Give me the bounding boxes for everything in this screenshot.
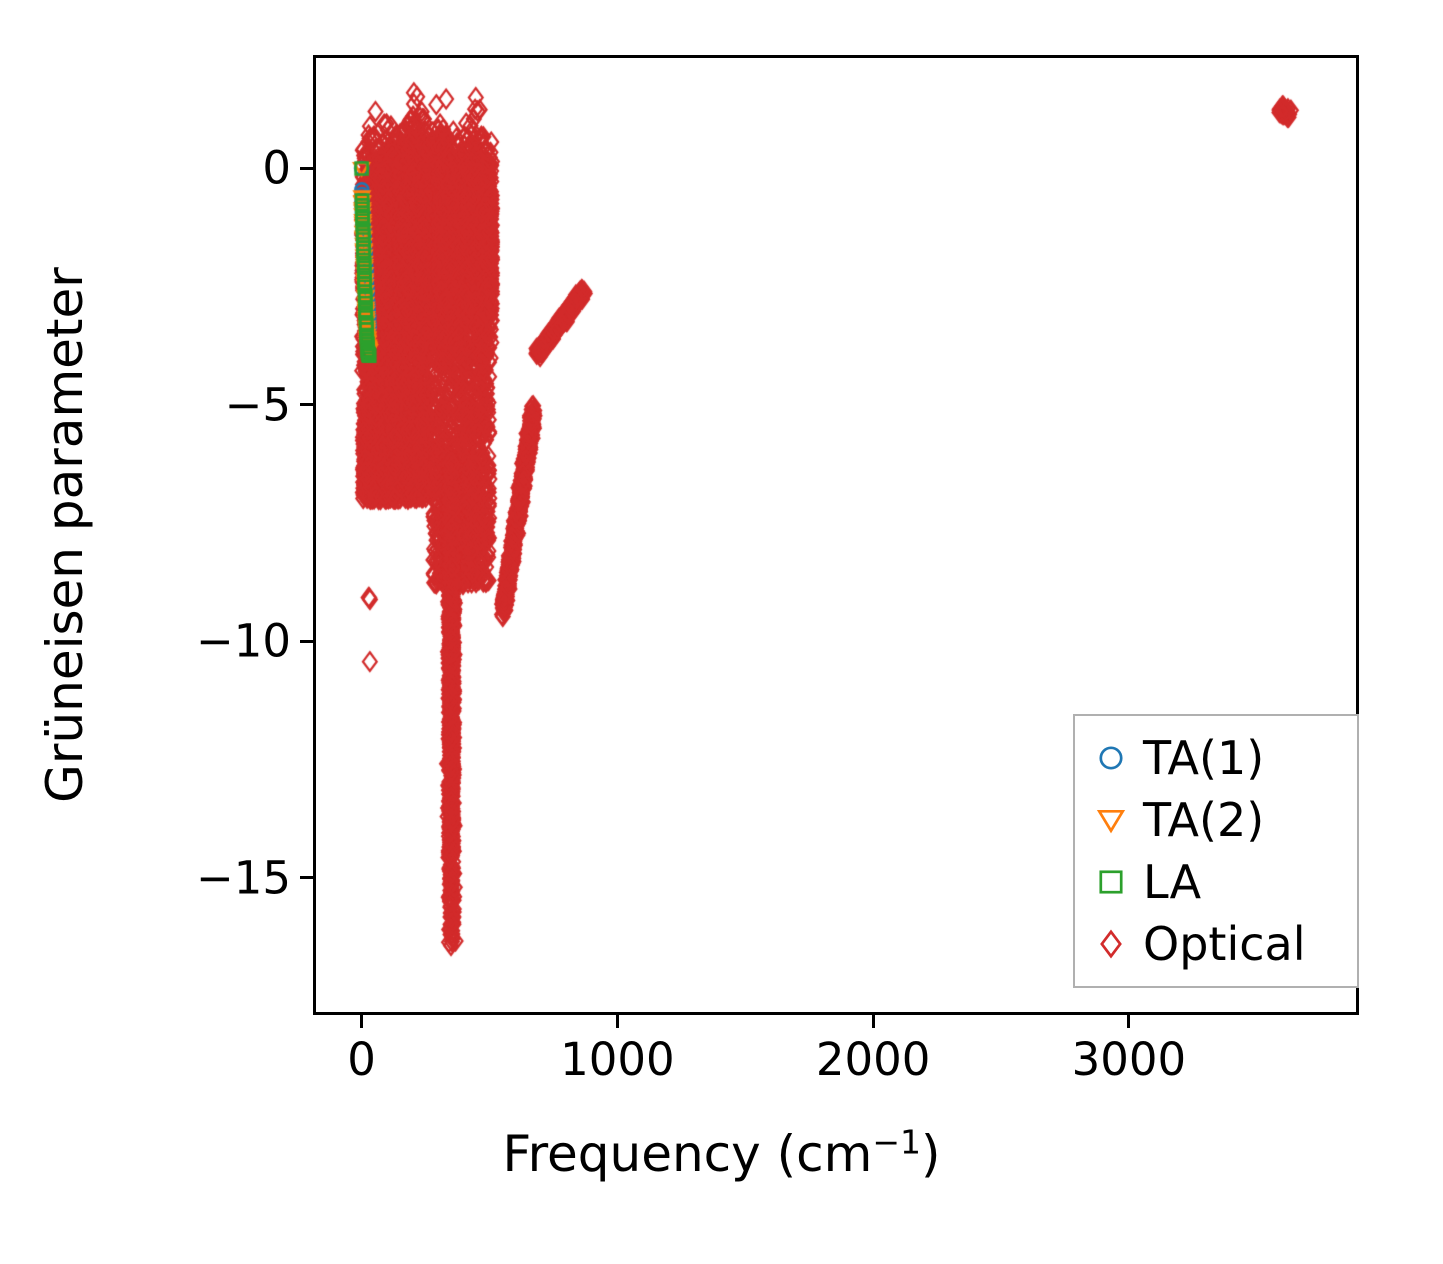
legend-entry-label: Optical — [1143, 921, 1305, 967]
x-tick-mark — [1127, 1015, 1130, 1028]
circle-marker-icon — [1089, 736, 1133, 780]
square-marker-icon — [1089, 860, 1133, 904]
x-tick-label: 2000 — [816, 1037, 931, 1082]
y-tick-label: 0 — [262, 146, 291, 191]
figure-root: 0100020003000 0−5−10−15 Frequency (cm−1)… — [0, 0, 1443, 1264]
legend-entry-ta1[interactable]: TA(1) — [1089, 727, 1357, 789]
x-axis-label: Frequency (cm−1) — [0, 1128, 1443, 1181]
x-axis-label-main: Frequency (cm — [502, 1125, 872, 1183]
legend-entry-optical[interactable]: Optical — [1089, 913, 1357, 975]
x-axis-label-exponent: −1 — [872, 1122, 921, 1161]
legend-entry-ta2[interactable]: TA(2) — [1089, 789, 1357, 851]
y-tick-mark — [300, 403, 313, 406]
x-tick-mark — [872, 1015, 875, 1028]
triangle-down-marker-icon — [1089, 798, 1133, 842]
x-tick-label: 0 — [347, 1037, 376, 1082]
x-axis-label-tail: ) — [921, 1125, 941, 1183]
legend-entry-label: LA — [1143, 859, 1201, 905]
y-axis-label: Grüneisen parameter — [40, 267, 90, 803]
y-tick-mark — [300, 640, 313, 643]
x-tick-mark — [616, 1015, 619, 1028]
legend-box[interactable]: TA(1)TA(2)LAOptical — [1073, 714, 1359, 988]
x-tick-label: 3000 — [1072, 1037, 1187, 1082]
y-tick-label: −10 — [196, 619, 291, 664]
x-tick-mark — [360, 1015, 363, 1028]
y-tick-mark — [300, 876, 313, 879]
y-tick-label: −5 — [225, 382, 291, 427]
legend-entry-label: TA(2) — [1143, 797, 1264, 843]
legend-entry-label: TA(1) — [1143, 735, 1264, 781]
legend-entry-la[interactable]: LA — [1089, 851, 1357, 913]
x-tick-label: 1000 — [560, 1037, 675, 1082]
y-tick-label: −15 — [196, 855, 291, 900]
y-axis-label-wrap: Grüneisen parameter — [0, 0, 130, 1070]
y-tick-mark — [300, 167, 313, 170]
diamond-marker-icon — [1089, 922, 1133, 966]
